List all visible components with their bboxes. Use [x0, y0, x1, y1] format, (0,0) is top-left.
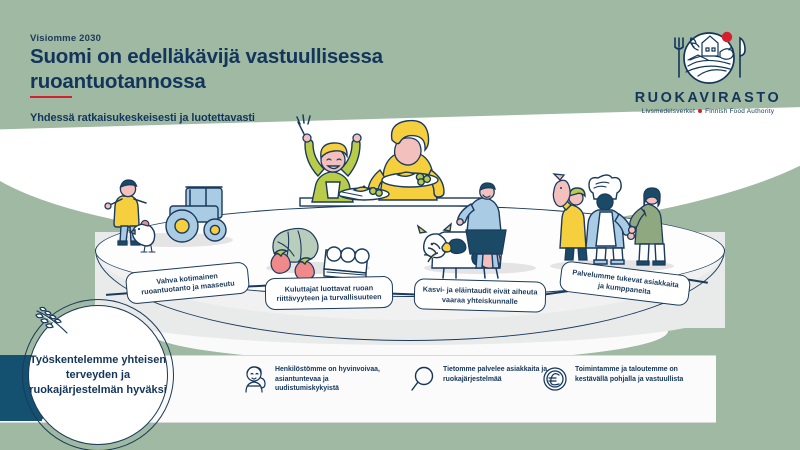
logo-wordmark: RUOKAVIRASTO	[628, 90, 788, 106]
kicker-label: Visiomme 2030	[30, 33, 101, 44]
logo-sub-left: Livsmedelsverket	[642, 108, 695, 115]
title-divider	[30, 96, 72, 98]
callout-box-3[interactable]: Kasvi- ja eläintaudit eivät aiheuta vaar…	[414, 278, 547, 312]
logo-mark-icon	[628, 30, 788, 90]
euro-coin-icon	[542, 365, 568, 393]
banner-item-1-text: Henkilöstömme on hyvinvoivaa, asiantunte…	[275, 365, 390, 394]
banner-item-2[interactable]: Tietomme palvelee asiakkaita ja ruokajär…	[410, 365, 558, 393]
infographic-canvas: .ln{fill:none;stroke:#1b3a5c;stroke-widt…	[0, 0, 800, 450]
magnifier-icon	[410, 365, 436, 393]
callout-box-2[interactable]: Kuluttajat luottavat ruoan riittävyyteen…	[265, 276, 394, 310]
logo-separator-dot	[698, 109, 702, 113]
person-head-icon	[242, 365, 268, 393]
banner-item-1[interactable]: Henkilöstömme on hyvinvoivaa, asiantunte…	[242, 365, 390, 394]
page-subtitle: Yhdessä ratkaisukeskeisesti ja luotettav…	[30, 112, 255, 124]
mission-circle-text: Työskentelemme yhteisen terveyden ja ruo…	[28, 305, 168, 445]
ruokavirasto-logo: RUOKAVIRASTO LivsmedelsverketFinnish Foo…	[628, 30, 788, 122]
logo-subline: LivsmedelsverketFinnish Food Authority	[628, 108, 788, 115]
logo-sub-right: Finnish Food Authority	[705, 108, 774, 115]
page-title: Suomi on edelläkävijä vastuullisessa ruo…	[30, 44, 460, 94]
banner-item-3-text: Toimintamme ja taloutemme on kestävällä …	[575, 365, 690, 384]
banner-item-2-text: Tietomme palvelee asiakkaita ja ruokajär…	[443, 365, 558, 384]
banner-item-3[interactable]: Toimintamme ja taloutemme on kestävällä …	[542, 365, 690, 393]
